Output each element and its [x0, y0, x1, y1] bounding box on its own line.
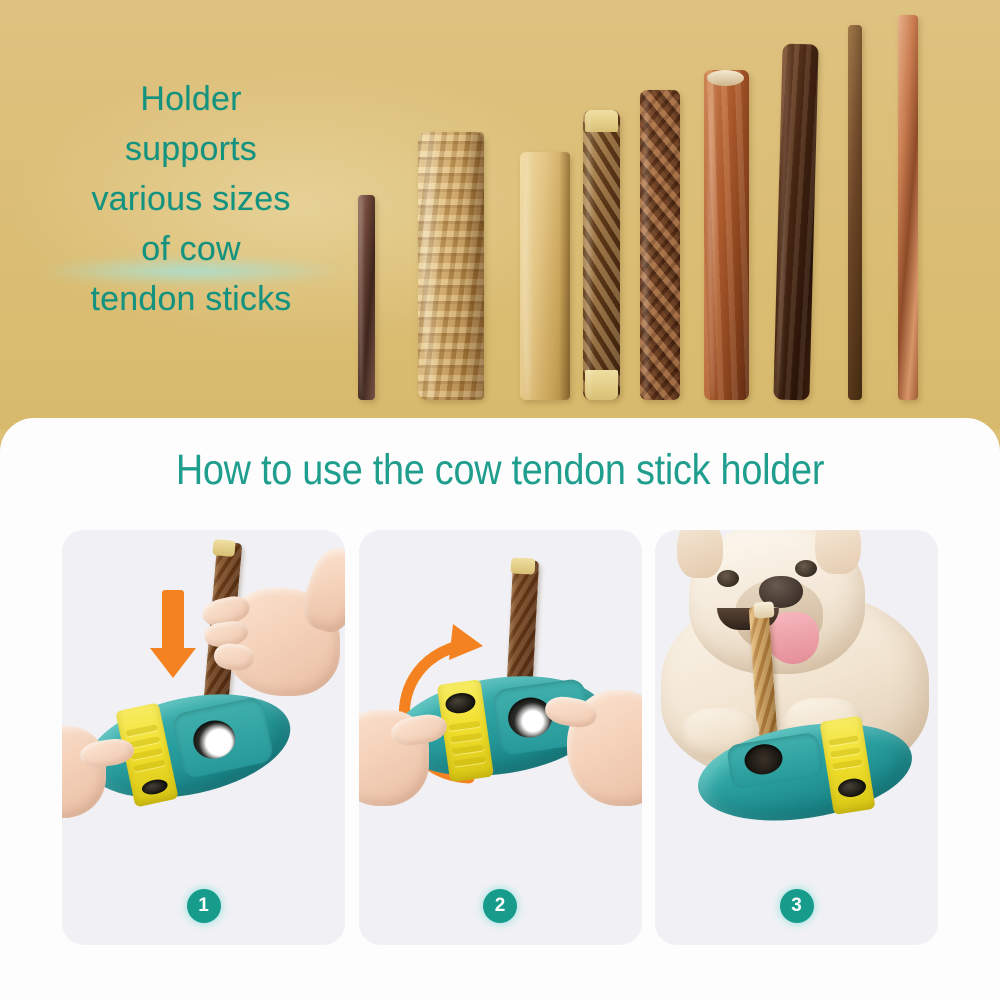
treat-stick-tip	[753, 601, 774, 618]
stick-slim-red	[898, 15, 918, 400]
stick-thin-dark-twin	[358, 195, 375, 400]
stick-slim-brown	[848, 25, 862, 400]
step-card-2[interactable]: 2	[359, 530, 642, 945]
step-3-scene	[655, 530, 938, 870]
section-title: How to use the cow tendon stick holder	[60, 446, 940, 495]
stick-braided-rope	[640, 90, 680, 400]
dog-eye-left	[717, 570, 739, 587]
how-to-section: How to use the cow tendon stick holder	[0, 418, 1000, 1000]
hero-headline: Holder supports various sizes of cow ten…	[46, 74, 336, 324]
infographic-page: Holder supports various sizes of cow ten…	[0, 0, 1000, 1000]
arrow-down-icon	[150, 590, 196, 680]
stick-long-dark-curved	[773, 44, 818, 401]
treat-stick-tip	[212, 539, 235, 557]
step-1-scene	[62, 530, 345, 870]
tendon-sticks-group	[340, 0, 1000, 400]
treat-stick-tip	[510, 557, 535, 574]
stick-rolled-chunky	[418, 132, 484, 400]
step-card-1[interactable]: 1	[62, 530, 345, 945]
step-card-3[interactable]: 3	[655, 530, 938, 945]
stick-thick-bully	[704, 70, 749, 400]
step-2-scene	[359, 530, 642, 870]
dog-eye-right	[795, 560, 817, 577]
hero-section: Holder supports various sizes of cow ten…	[0, 0, 1000, 430]
stick-twisted-tendon	[583, 110, 620, 400]
stick-flat-pale-slab	[520, 152, 570, 400]
step-badge: 1	[187, 889, 221, 923]
dog-ear-right	[815, 530, 861, 574]
steps-row: 1	[62, 530, 938, 945]
dog-ear-left	[677, 530, 723, 578]
step-badge: 3	[780, 889, 814, 923]
step-badge: 2	[483, 889, 517, 923]
